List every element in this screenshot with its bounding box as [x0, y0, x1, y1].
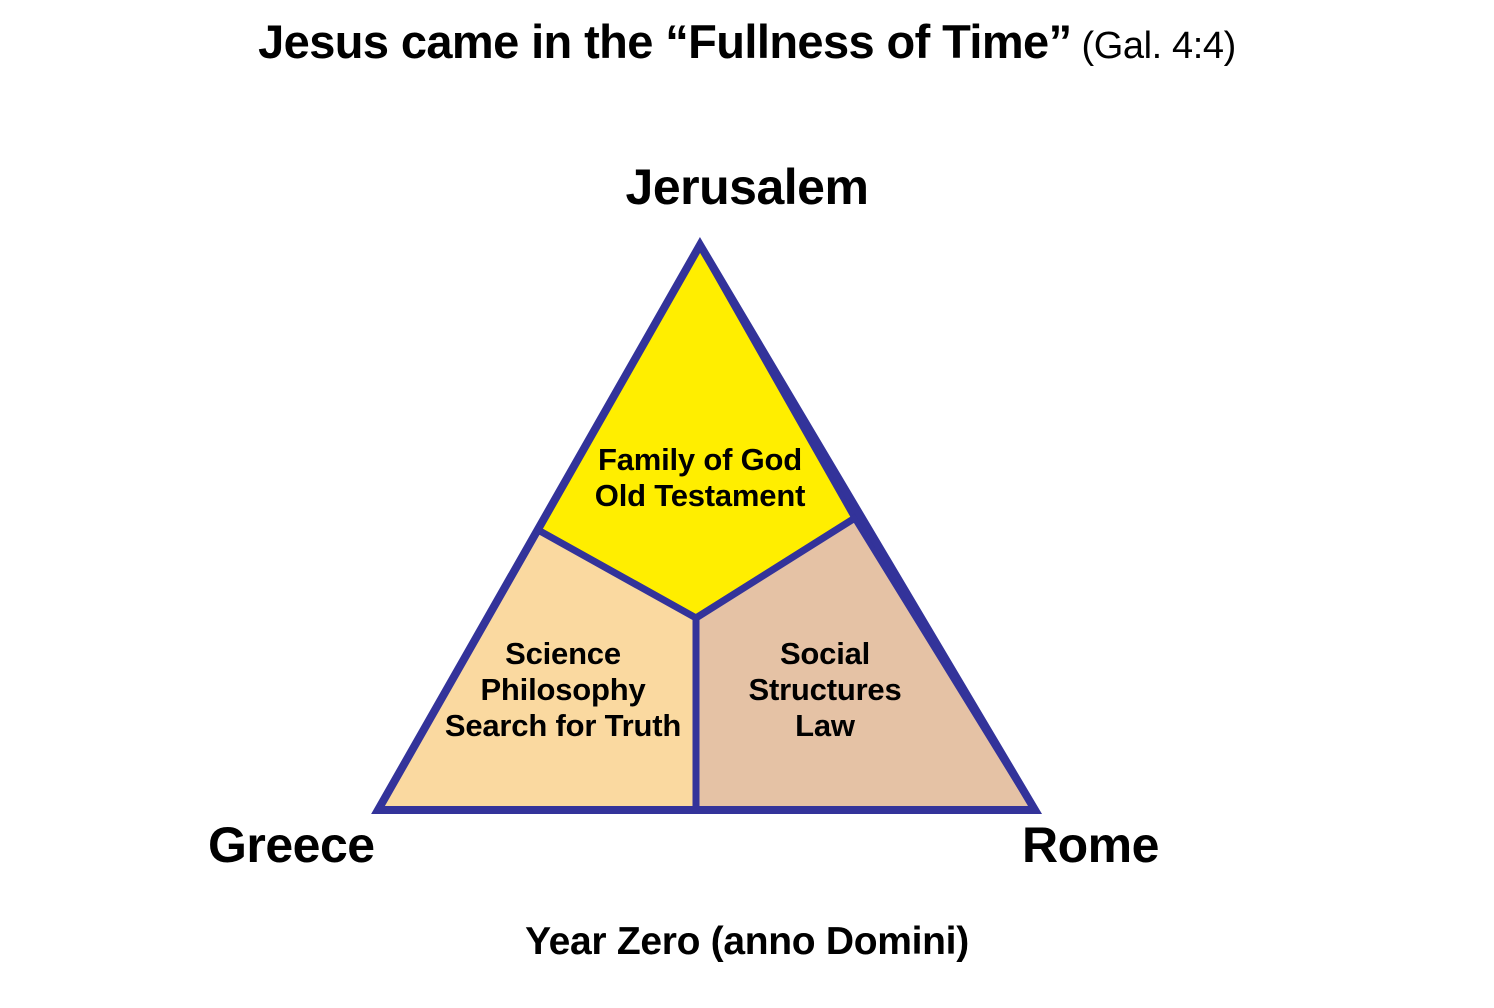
slide-canvas: Jesus came in the “Fullness of Time”(Gal… — [0, 0, 1494, 1008]
corner-label-rome: Rome — [1022, 816, 1159, 874]
bottom-caption: Year Zero (anno Domini) — [0, 920, 1494, 964]
corner-label-greece: Greece — [208, 816, 375, 874]
